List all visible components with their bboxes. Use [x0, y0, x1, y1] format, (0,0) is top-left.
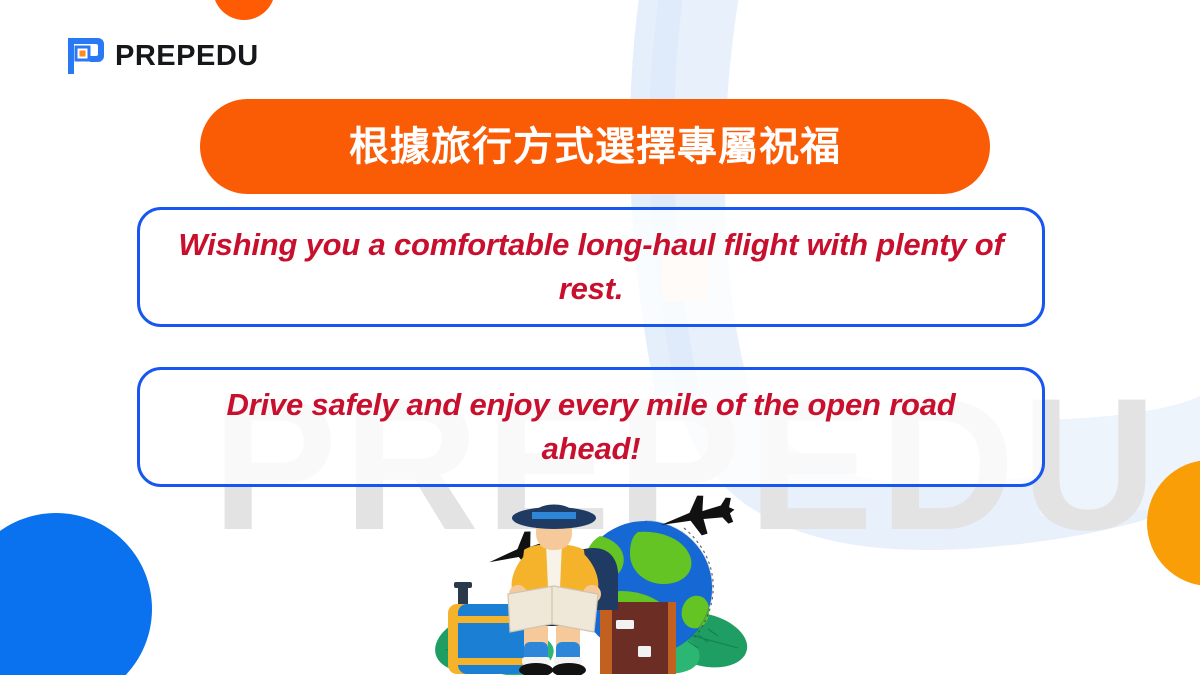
page-title: 根據旅行方式選擇專屬祝福 [349, 124, 841, 170]
brand-name: PREPEDU [115, 42, 259, 71]
prepedu-p-mark-icon [66, 36, 106, 76]
swoosh-sliver-icon [630, 0, 700, 396]
poster-canvas: PREPEDU PREPEDU 根據旅行方式選擇專屬祝福 Wishing you… [0, 0, 1200, 675]
message-card-drive[interactable]: Drive safely and enjoy every mile of the… [137, 367, 1045, 487]
circle-blue-bottom-left [0, 513, 152, 675]
message-card-flight-text: Wishing you a comfortable long-haul flig… [140, 223, 1042, 311]
page-title-banner: 根據旅行方式選擇專屬祝福 [200, 99, 990, 194]
suitcase-brown-icon [600, 602, 676, 674]
message-card-drive-text: Drive safely and enjoy every mile of the… [140, 383, 1042, 471]
message-card-flight[interactable]: Wishing you a comfortable long-haul flig… [137, 207, 1045, 327]
circle-orange-top [213, 0, 275, 20]
brand-logo: PREPEDU [66, 36, 259, 76]
traveler-illustration [432, 492, 752, 675]
